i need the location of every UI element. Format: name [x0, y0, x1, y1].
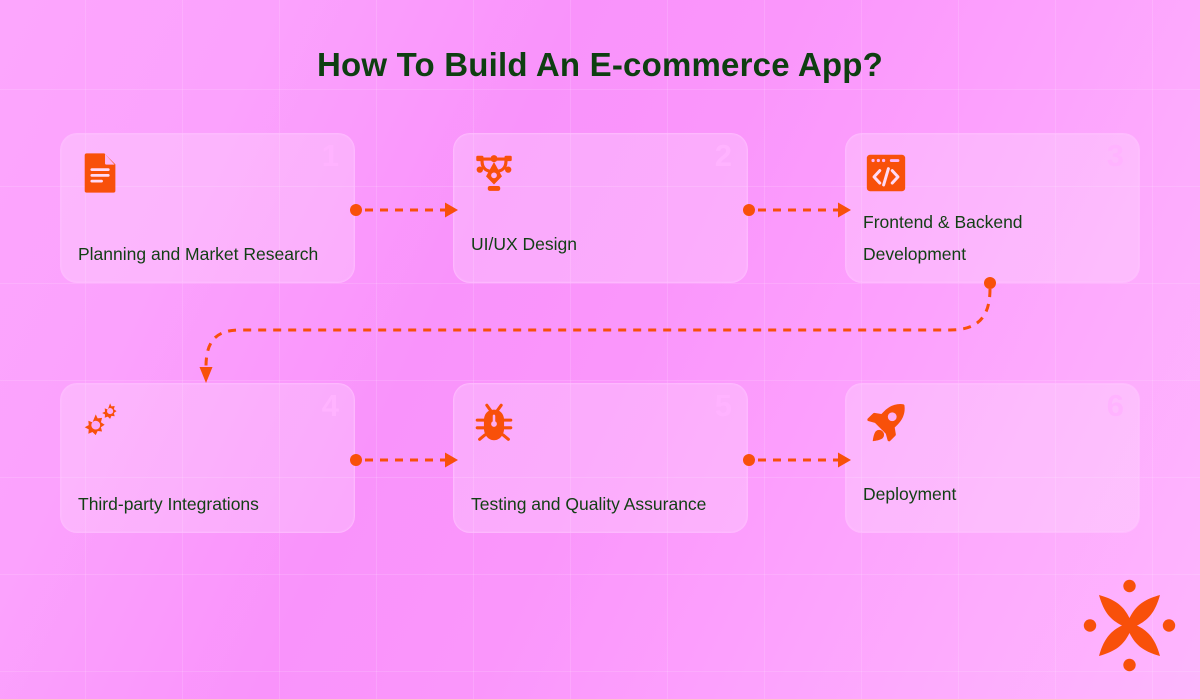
connector-step-2-to-3 — [738, 190, 858, 230]
step-card-4[interactable]: 4 Third-party Integrations — [60, 383, 355, 533]
connector-step-4-to-5 — [345, 440, 465, 480]
step-label-1: Planning and Market Research — [78, 238, 340, 270]
step-card-2[interactable]: 2 UI/UX Design — [453, 133, 748, 283]
step-number-1: 1 — [322, 140, 339, 171]
step-label-3: Frontend & Backend Development — [863, 206, 1125, 270]
step-card-1[interactable]: 1 Planning and Market Research — [60, 133, 355, 283]
step-label-2: UI/UX Design — [471, 228, 733, 260]
step-card-3[interactable]: 3 Frontend & Backend Development — [845, 133, 1140, 283]
connector-step-3-to-4 — [180, 275, 1020, 395]
step-number-3: 3 — [1107, 140, 1124, 171]
gears-icon — [78, 400, 124, 446]
pen-tool-icon — [471, 150, 517, 196]
code-window-icon — [863, 150, 909, 196]
step-label-5: Testing and Quality Assurance — [471, 488, 733, 520]
document-icon — [78, 150, 124, 196]
connector-step-5-to-6 — [738, 440, 858, 480]
step-card-6[interactable]: 6 Deployment — [845, 383, 1140, 533]
step-number-5: 5 — [715, 390, 732, 421]
step-number-2: 2 — [715, 140, 732, 171]
four-point-star-logo — [1082, 578, 1177, 673]
background-grid-pattern — [0, 0, 1200, 699]
bug-icon — [471, 400, 517, 446]
step-label-4: Third-party Integrations — [78, 488, 340, 520]
connector-step-1-to-2 — [345, 190, 465, 230]
step-number-4: 4 — [322, 390, 339, 421]
rocket-icon — [863, 400, 909, 446]
step-number-6: 6 — [1107, 390, 1124, 421]
infographic-canvas: How To Build An E-commerce App? 1 Planni… — [0, 0, 1200, 699]
page-title: How To Build An E-commerce App? — [0, 46, 1200, 84]
step-card-5[interactable]: 5 Testing and Quality Assurance — [453, 383, 748, 533]
step-label-6: Deployment — [863, 478, 1125, 510]
